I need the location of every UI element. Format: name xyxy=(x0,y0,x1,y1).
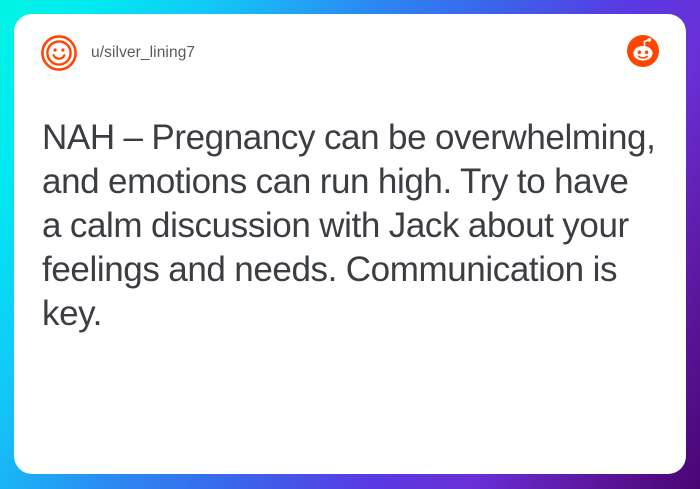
reddit-snoo-icon[interactable] xyxy=(626,34,660,68)
username-label: u/silver_lining7 xyxy=(91,44,195,62)
gradient-background: u/silver_lining7 NAH – Pregnancy can be … xyxy=(0,0,700,489)
card-header: u/silver_lining7 xyxy=(14,14,686,70)
smiley-face-icon xyxy=(40,34,78,72)
reddit-comment-card: u/silver_lining7 NAH – Pregnancy can be … xyxy=(14,14,686,474)
avatar[interactable] xyxy=(40,34,78,72)
card-body: NAH – Pregnancy can be overwhelming, and… xyxy=(14,70,686,336)
comment-text: NAH – Pregnancy can be overwhelming, and… xyxy=(42,116,656,336)
